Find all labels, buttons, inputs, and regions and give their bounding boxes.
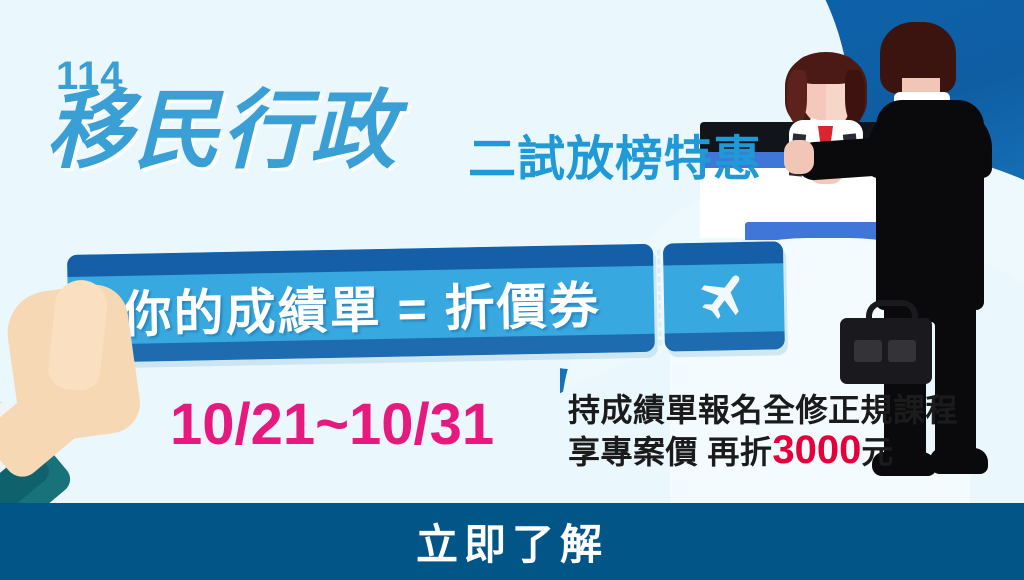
page-title: 移民行政 xyxy=(46,88,398,174)
man-hand xyxy=(784,140,814,174)
promo-description: 持成績單報名全修正規課程 享專案價 再折3000元 xyxy=(568,392,958,474)
page-subtitle: 二試放榜特惠 xyxy=(468,136,762,184)
stub-top-band xyxy=(663,241,783,265)
briefcase-latch-left xyxy=(854,340,882,362)
ticket-stub[interactable] xyxy=(663,241,785,351)
promo-line-2: 享專案價 再折3000元 xyxy=(568,428,958,474)
airplane-icon xyxy=(685,266,762,327)
ticket-perforation xyxy=(657,250,662,346)
stub-bottom-band xyxy=(665,331,785,351)
promo-banner: 114 移民行政 二試放榜特惠 你的成績單 = 折價券 xyxy=(0,0,1024,580)
promo-line-1: 持成績單報名全修正規課程 xyxy=(568,392,958,428)
cta-bar[interactable]: 立即了解 xyxy=(0,503,1024,580)
promo-discount-amount: 3000 xyxy=(772,428,861,472)
staff-hair-left xyxy=(787,70,807,124)
date-range: 10/21~10/31 xyxy=(170,396,494,454)
promo-line-2-prefix: 享專案價 再折 xyxy=(568,434,772,470)
hand-holding-ticket-icon xyxy=(0,268,184,518)
promo-line-2-suffix: 元 xyxy=(861,434,894,470)
man-suit-torso xyxy=(876,100,984,310)
briefcase-latch-right xyxy=(888,340,916,362)
cta-label: 立即了解 xyxy=(416,511,608,572)
briefcase-icon xyxy=(840,300,932,386)
